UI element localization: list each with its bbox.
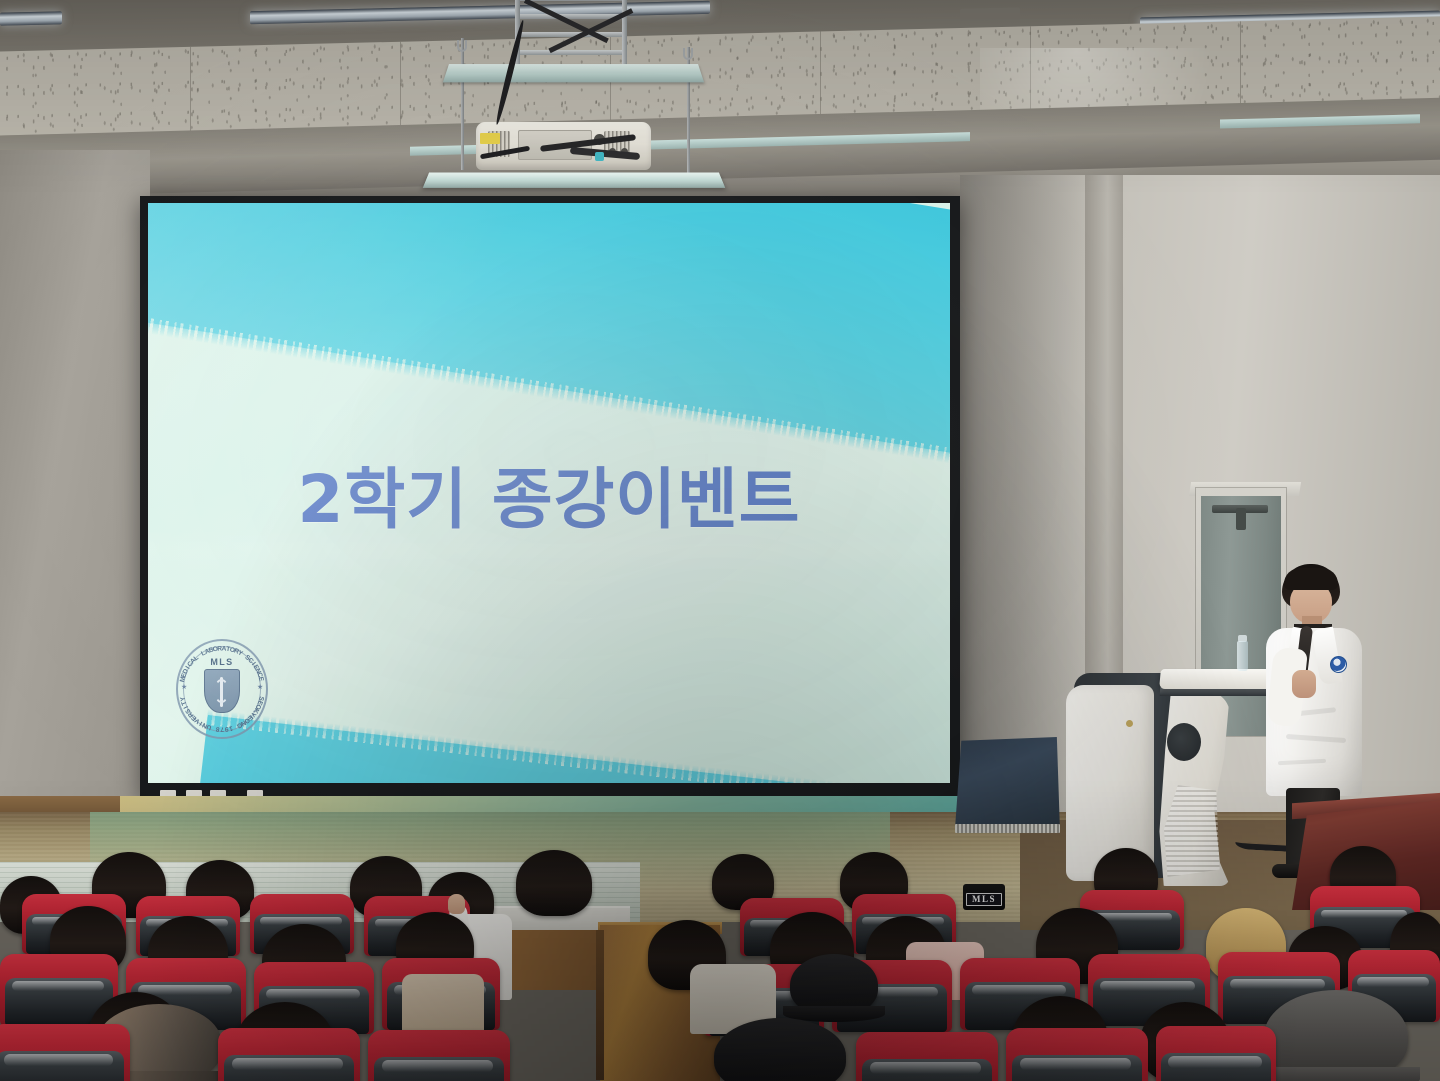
- seat[interactable]: [368, 1030, 510, 1081]
- ceiling-projector-rig: [420, 0, 740, 200]
- audience-head: [516, 850, 592, 916]
- panel-seam: [1240, 21, 1241, 105]
- seat[interactable]: [218, 1028, 360, 1081]
- left-wall: [0, 150, 150, 850]
- star-icon: ★: [257, 683, 263, 689]
- lectern-lock-icon: [1126, 720, 1133, 727]
- lectern-cable-hole: [1167, 723, 1201, 761]
- rod-hook: [457, 40, 467, 52]
- cable-connector: [595, 152, 604, 161]
- rod-hook: [683, 48, 693, 60]
- projector-sticker: [480, 133, 500, 144]
- projector-upper-plate: [443, 64, 704, 82]
- seat[interactable]: [0, 1024, 130, 1081]
- panel-seam: [1030, 26, 1031, 110]
- presenter-hands: [1292, 670, 1316, 698]
- university-emblem-icon: [1330, 656, 1347, 673]
- panel-seam: [190, 47, 191, 131]
- door-closer-body: [1236, 508, 1246, 530]
- mls-logo: MEDICAL LABORATORY SCIENCE SEOKYEONG 197…: [174, 635, 270, 743]
- lecture-hall-photo: 2학기 종강이벤트 MEDICAL LABORATORY SCIENCE SEO…: [0, 0, 1440, 1081]
- ceiling-vent: [960, 7, 1020, 20]
- suspension-rod: [461, 38, 464, 170]
- black-cap: [714, 1018, 846, 1081]
- ceiling-strip: [1220, 114, 1420, 128]
- black-cap: [790, 954, 878, 1016]
- projector-lower-plate: [423, 173, 725, 188]
- audience-seating: MLS: [0, 846, 1440, 1081]
- table-drape-fringe: [955, 824, 1060, 833]
- snake-icon: [214, 679, 229, 703]
- seat[interactable]: [856, 1032, 998, 1081]
- water-bottle: [1237, 641, 1248, 671]
- draped-table: [955, 737, 1060, 832]
- panel-seam: [400, 42, 401, 126]
- mls-bag-label: MLS: [966, 893, 1002, 906]
- gray-cap: [1264, 990, 1408, 1081]
- mls-bag: MLS: [963, 884, 1005, 910]
- logo-center-text: MLS: [204, 657, 240, 667]
- projection-screen: 2학기 종강이벤트 MEDICAL LABORATORY SCIENCE SEO…: [148, 203, 950, 783]
- seat[interactable]: [1156, 1026, 1276, 1081]
- wall-pillar: [1085, 175, 1123, 675]
- slide-title: 2학기 종강이벤트: [148, 446, 950, 542]
- star-icon: ★: [181, 683, 187, 689]
- presenter-fringe: [1284, 568, 1338, 590]
- ceiling-light-strip: [0, 11, 62, 25]
- raised-hand: [448, 894, 465, 914]
- scissor-lift: [515, 0, 627, 66]
- panel-seam: [820, 31, 821, 115]
- seat[interactable]: [1006, 1028, 1148, 1081]
